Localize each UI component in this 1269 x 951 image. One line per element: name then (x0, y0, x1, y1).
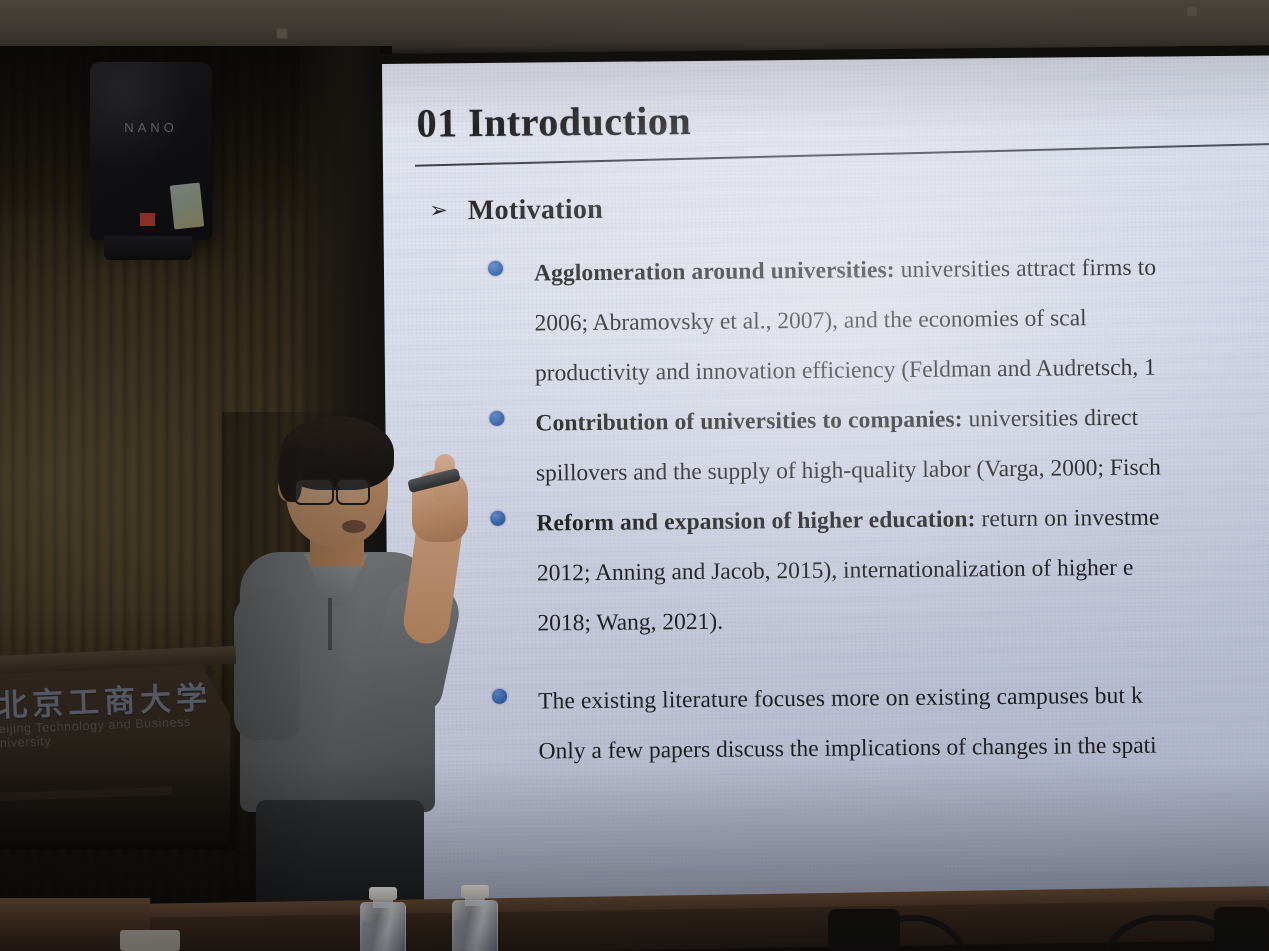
bullet-text: The existing literature focuses more on … (538, 669, 1269, 727)
bullet-lead: Reform and expansion of higher education… (536, 506, 975, 536)
presenter-left-sleeve (234, 590, 300, 740)
chair-seat (1214, 907, 1269, 951)
title-underline-rule (415, 143, 1269, 167)
bullet-continuation: productivity and innovation efficiency (… (535, 341, 1269, 399)
water-bottle (452, 886, 498, 951)
bottle-cap (369, 887, 397, 900)
presenter-placket (328, 598, 332, 650)
bottle-label (454, 920, 496, 950)
list-item: Reform and expansion of higher education… (386, 491, 1269, 650)
presentation-slide: 01 Introduction ➢ Motivation Agglomerati… (382, 55, 1269, 902)
bullet-lead: Agglomeration around universities: (534, 257, 895, 286)
bottle-label (362, 922, 404, 951)
slide-title: 01 Introduction (416, 97, 691, 147)
section-heading-label: Motivation (468, 194, 604, 227)
bullet-dot-icon (488, 261, 503, 276)
bullet-continuation: Only a few papers discuss the implicatio… (538, 719, 1269, 777)
glasses-bridge (332, 487, 340, 490)
bullet-rest: The existing literature focuses more on … (538, 683, 1143, 715)
bullet-lead: Contribution of universities to companie… (535, 406, 962, 436)
speaker-mount-base (104, 236, 192, 260)
nano-speaker-box: NANO (90, 62, 212, 240)
arrow-bullet-icon: ➢ (429, 199, 448, 221)
podium-shadow (0, 740, 236, 850)
ceiling-vent-icon (276, 28, 288, 39)
bullet-rest: return on investme (975, 505, 1159, 533)
glasses-icon (294, 478, 334, 505)
bullet-continuation: spillovers and the supply of high-qualit… (536, 441, 1269, 499)
conference-room-scene: NANO 01 Introduction ➢ Motivation Agglom… (0, 0, 1269, 951)
nano-brand-label: NANO (90, 120, 212, 135)
projection-screen: 01 Introduction ➢ Motivation Agglomerati… (382, 55, 1269, 902)
section-heading-row: ➢ Motivation (429, 194, 603, 228)
bullet-rest: universities direct (963, 405, 1139, 433)
speaker-sticker (170, 183, 204, 230)
bullet-rest: universities attract firms to (895, 255, 1157, 284)
glasses-icon (336, 478, 370, 505)
bullet-list: Agglomeration around universities: unive… (384, 241, 1269, 778)
bullet-text: Reform and expansion of higher education… (536, 491, 1269, 549)
bullet-text: Contribution of universities to companie… (535, 391, 1269, 449)
bullet-continuation: 2006; Abramovsky et al., 2007), and the … (534, 291, 1269, 349)
bullet-text: Agglomeration around universities: unive… (534, 241, 1269, 299)
ceiling-vent-icon (1186, 6, 1198, 17)
bullet-continuation: 2018; Wang, 2021). (537, 591, 1269, 649)
list-item: The existing literature focuses more on … (388, 669, 1269, 778)
water-bottle (360, 888, 406, 951)
speaker-logo-icon (140, 213, 155, 226)
presenter-mouth (342, 520, 366, 533)
list-item: Agglomeration around universities: unive… (384, 241, 1269, 400)
chair-seat (828, 909, 900, 951)
presenter (222, 412, 512, 951)
bullet-continuation: 2012; Anning and Jacob, 2015), internati… (537, 541, 1269, 599)
bottle-cap (461, 885, 489, 898)
list-item: Contribution of universities to companie… (385, 391, 1269, 500)
foreground-paper (120, 930, 180, 951)
